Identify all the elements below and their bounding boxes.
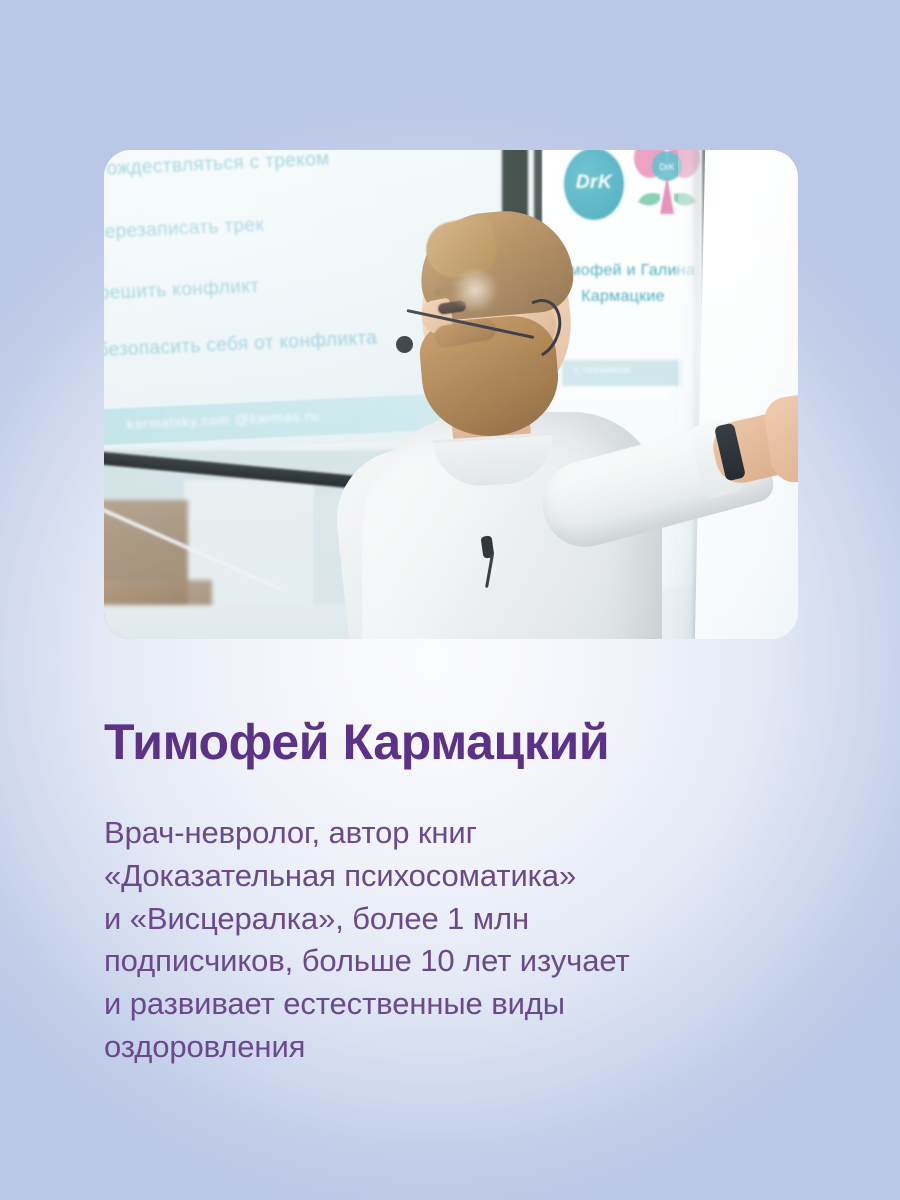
speaker-profile-card: отождествляться с треком перезаписать тр…	[0, 0, 900, 1200]
photo-content: отождествляться с треком перезаписать тр…	[104, 150, 798, 639]
speaker-bio: Врач-невролог, автор книг «Доказательная…	[104, 812, 824, 1069]
microphone-capsule-icon	[396, 336, 413, 353]
speaker-photo: отождествляться с треком перезаписать тр…	[104, 150, 798, 639]
speaker-name: Тимофей Кармацкий	[104, 715, 609, 770]
speaker-figure	[104, 150, 798, 639]
cheek-highlight	[448, 270, 502, 310]
